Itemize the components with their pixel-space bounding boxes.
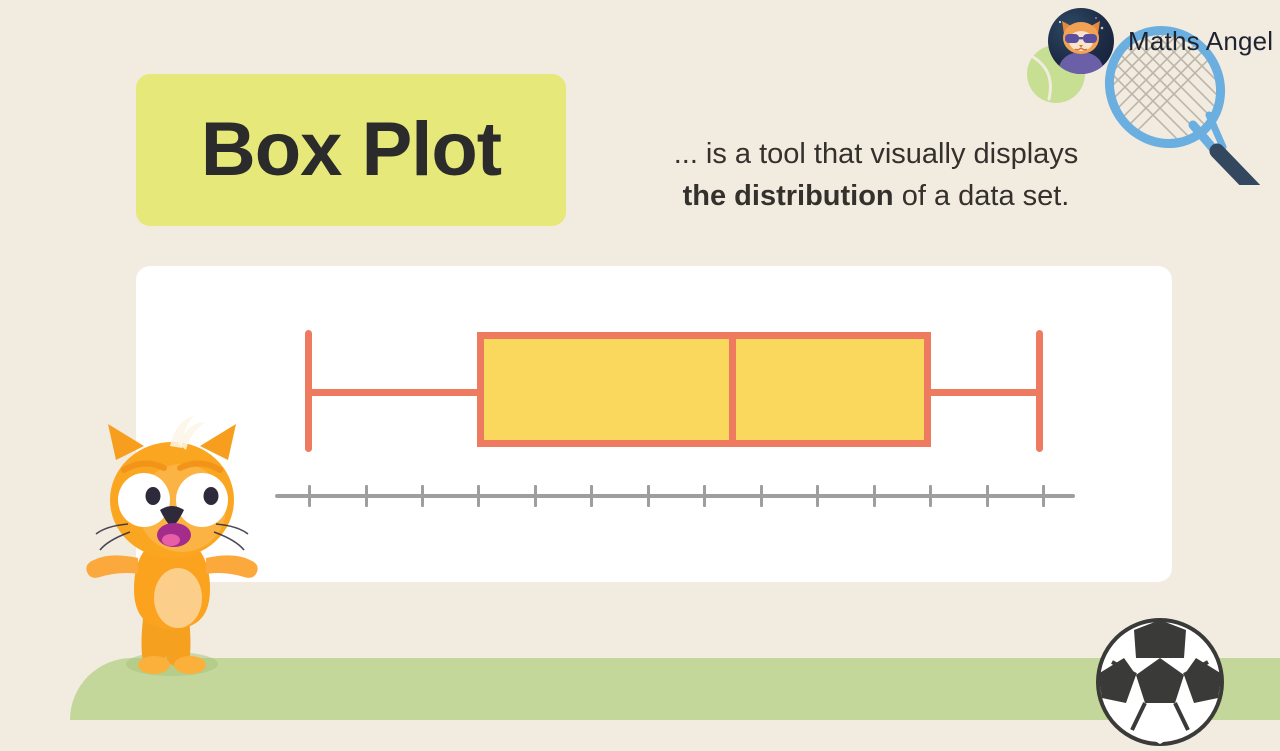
subtitle-emphasis: the distribution xyxy=(683,180,894,212)
axis-tick-10 xyxy=(873,485,876,507)
soccer-ball-icon xyxy=(1096,618,1224,746)
axis-tick-11 xyxy=(929,485,932,507)
whisker-left-line xyxy=(308,389,477,396)
whisker-max-cap xyxy=(1036,330,1043,452)
slide-canvas: Maths Angel Box Plot ... is a tool that … xyxy=(0,0,1280,720)
page-title: Box Plot xyxy=(201,112,501,188)
axis-tick-2 xyxy=(421,485,424,507)
page-title-badge: Box Plot xyxy=(136,74,566,226)
axis-tick-0 xyxy=(308,485,311,507)
whisker-right-line xyxy=(931,389,1039,396)
axis-tick-7 xyxy=(703,485,706,507)
box-iqr xyxy=(477,332,931,447)
box-plot xyxy=(136,266,1172,582)
axis-tick-13 xyxy=(1042,485,1045,507)
axis-tick-1 xyxy=(365,485,368,507)
subtitle-line-2-rest: of a data set. xyxy=(894,180,1070,212)
axis-tick-5 xyxy=(590,485,593,507)
whisker-min-cap xyxy=(305,330,312,452)
brand-name: Maths Angel xyxy=(1128,26,1273,57)
axis-tick-3 xyxy=(477,485,480,507)
median-line xyxy=(729,332,736,447)
chart-card xyxy=(136,266,1172,582)
orange-cat-mascot-icon xyxy=(72,412,272,682)
cat-avatar-icon xyxy=(1048,8,1114,74)
brand-logo[interactable]: Maths Angel xyxy=(1048,8,1273,74)
axis-tick-6 xyxy=(647,485,650,507)
number-line-axis xyxy=(275,494,1075,498)
subtitle-line-1: ... is a tool that visually displays xyxy=(674,138,1079,170)
axis-tick-8 xyxy=(760,485,763,507)
subtitle: ... is a tool that visually displays the… xyxy=(596,133,1156,217)
axis-tick-4 xyxy=(534,485,537,507)
axis-tick-9 xyxy=(816,485,819,507)
axis-tick-12 xyxy=(986,485,989,507)
